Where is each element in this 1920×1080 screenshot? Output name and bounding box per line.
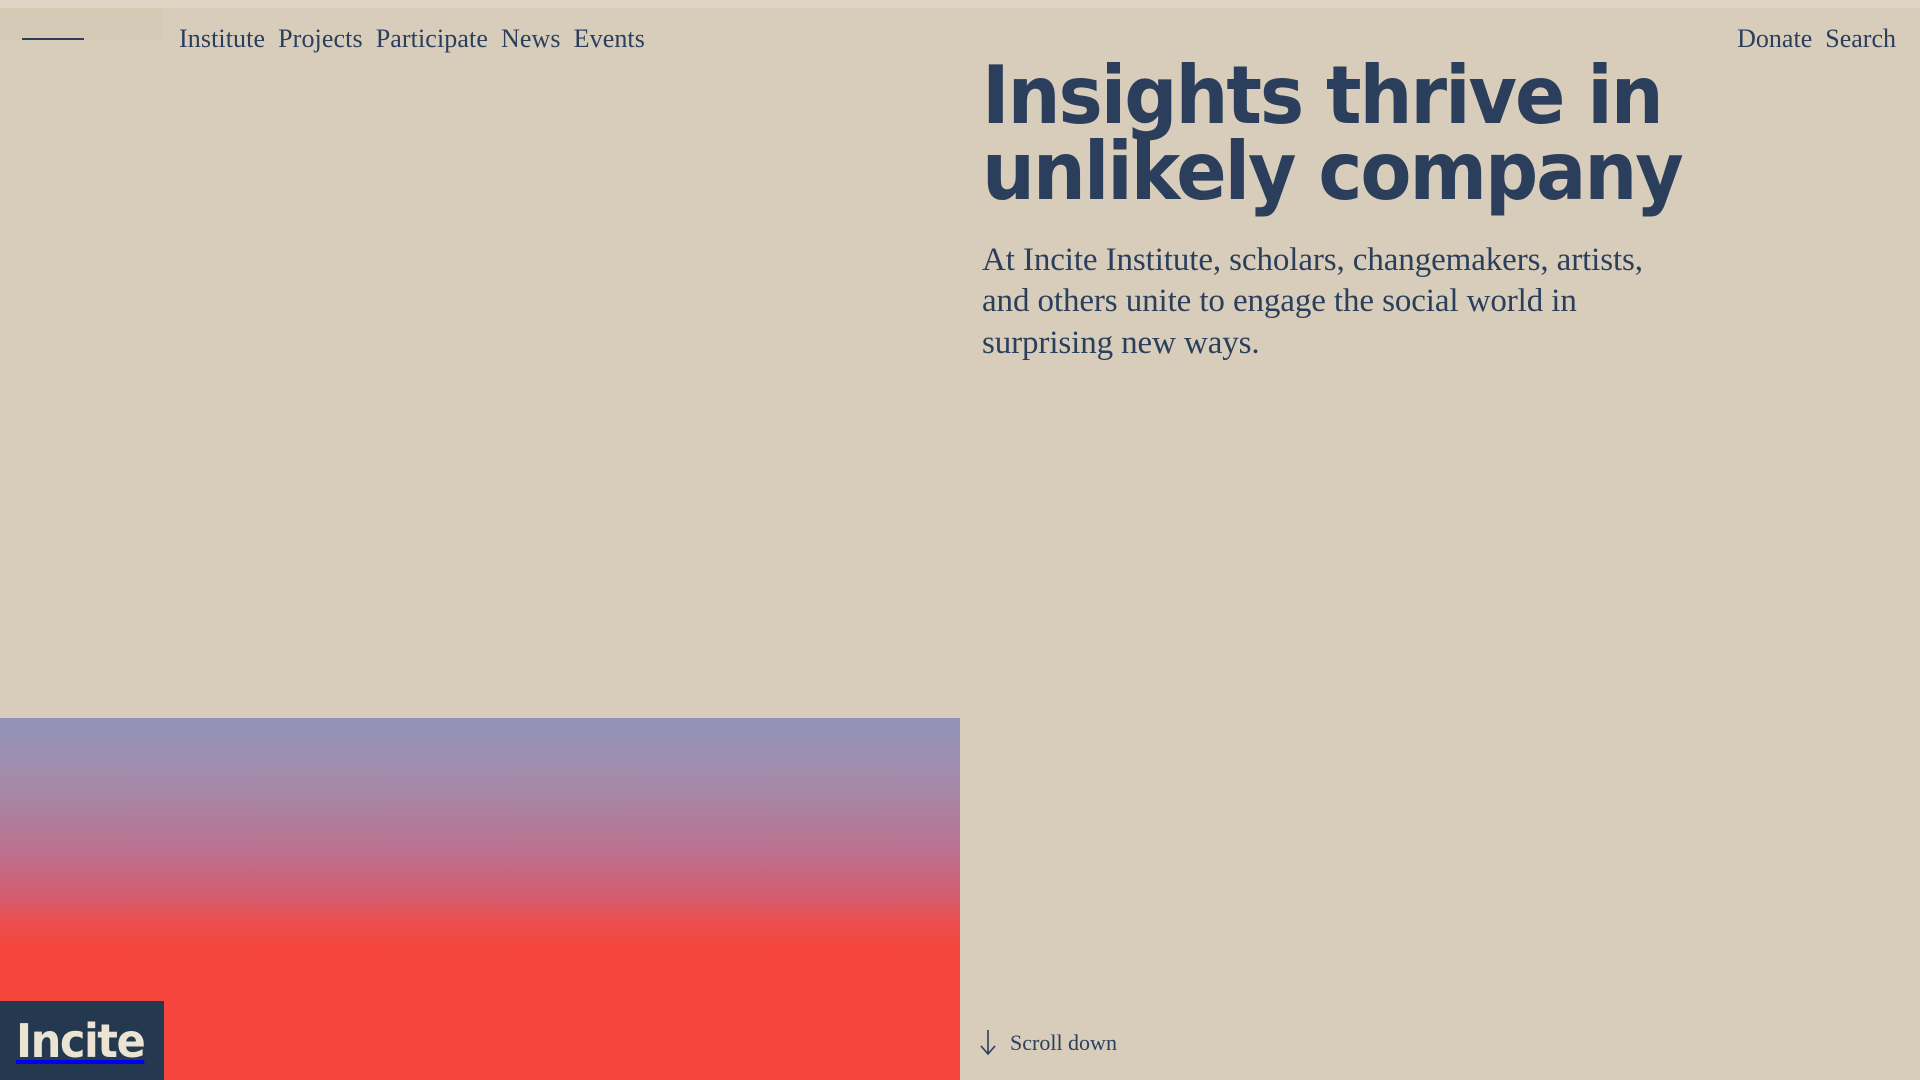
brand-logo-badge[interactable]: Incite bbox=[0, 1001, 164, 1080]
primary-navigation: Institute Projects Participate News Even… bbox=[179, 26, 645, 52]
site-header: Institute Projects Participate News Even… bbox=[0, 0, 1920, 82]
nav-item-institute[interactable]: Institute bbox=[179, 26, 265, 52]
hero-subheadline: At Incite Institute, scholars, changemak… bbox=[982, 240, 1662, 364]
logo-rule-mark[interactable] bbox=[22, 38, 84, 40]
nav-item-participate[interactable]: Participate bbox=[376, 26, 488, 52]
utility-navigation: Donate Search bbox=[1737, 26, 1896, 52]
scroll-down-cue[interactable]: Scroll down bbox=[980, 1030, 1117, 1056]
nav-item-events[interactable]: Events bbox=[574, 26, 645, 52]
nav-item-projects[interactable]: Projects bbox=[278, 26, 363, 52]
nav-item-donate[interactable]: Donate bbox=[1737, 26, 1812, 52]
nav-item-search[interactable]: Search bbox=[1825, 26, 1896, 52]
arrow-down-icon bbox=[980, 1030, 996, 1056]
nav-item-news[interactable]: News bbox=[501, 26, 561, 52]
scroll-down-label: Scroll down bbox=[1010, 1032, 1117, 1054]
brand-logo-wordmark: Incite bbox=[16, 1018, 144, 1064]
hero-section: Insights thrive in unlikely company At I… bbox=[982, 58, 1742, 364]
